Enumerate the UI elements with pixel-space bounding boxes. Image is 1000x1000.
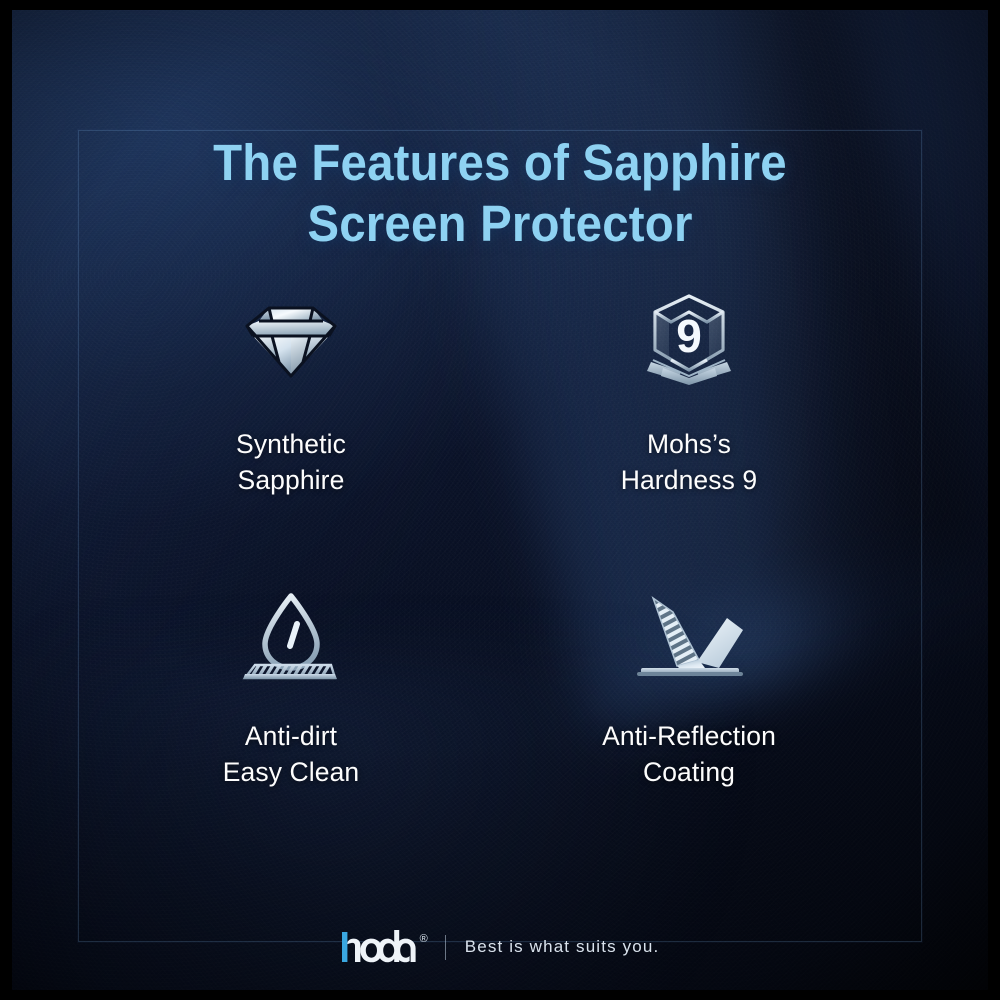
feature-icon-wrapper: 9 [633, 280, 745, 396]
anti-reflection-icon [627, 588, 751, 680]
footer: ® Best is what suits you. [0, 930, 1000, 964]
feature-item-synthetic-sapphire: Synthetic Sapphire [96, 280, 486, 580]
feature-label: Mohs’s Hardness 9 [621, 426, 758, 498]
page-title-line-2: Screen Protector [35, 193, 965, 254]
feature-label-line-1: Anti-Reflection [602, 721, 776, 751]
feature-label: Anti-Reflection Coating [602, 718, 776, 790]
water-droplet-icon [235, 586, 347, 682]
feature-label: Anti-dirt Easy Clean [223, 718, 360, 790]
feature-icon-wrapper [627, 580, 751, 688]
page-title: The Features of Sapphire Screen Protecto… [35, 132, 965, 254]
page-title-line-1: The Features of Sapphire [35, 132, 965, 193]
feature-label-line-2: Sapphire [236, 462, 346, 498]
mohs-number: 9 [676, 310, 702, 362]
poster-canvas: The Features of Sapphire Screen Protecto… [0, 0, 1000, 1000]
feature-label-line-2: Easy Clean [223, 754, 360, 790]
feature-item-mohs-hardness: 9 Mohs’s Hardness 9 [494, 280, 884, 580]
feature-item-anti-reflection: Anti-Reflection Coating [494, 580, 884, 880]
feature-label-line-1: Anti-dirt [245, 721, 337, 751]
feature-label-line-2: Coating [602, 754, 776, 790]
brand-tagline: Best is what suits you. [465, 937, 660, 957]
registered-trademark-icon: ® [420, 932, 428, 946]
mohs-hardness-9-icon: 9 [633, 288, 745, 388]
feature-icon-wrapper [239, 280, 343, 396]
feature-grid: Synthetic Sapphire [110, 280, 890, 880]
feature-icon-wrapper [235, 580, 347, 688]
feature-label-line-1: Mohs’s [647, 429, 731, 459]
hoda-wordmark-icon [341, 930, 419, 964]
feature-label: Synthetic Sapphire [236, 426, 346, 498]
feature-label-line-2: Hardness 9 [621, 462, 758, 498]
feature-item-anti-dirt: Anti-dirt Easy Clean [96, 580, 486, 880]
brand-logo: ® [341, 930, 428, 964]
feature-label-line-1: Synthetic [236, 429, 346, 459]
diamond-icon [239, 292, 343, 384]
footer-divider [445, 935, 446, 960]
